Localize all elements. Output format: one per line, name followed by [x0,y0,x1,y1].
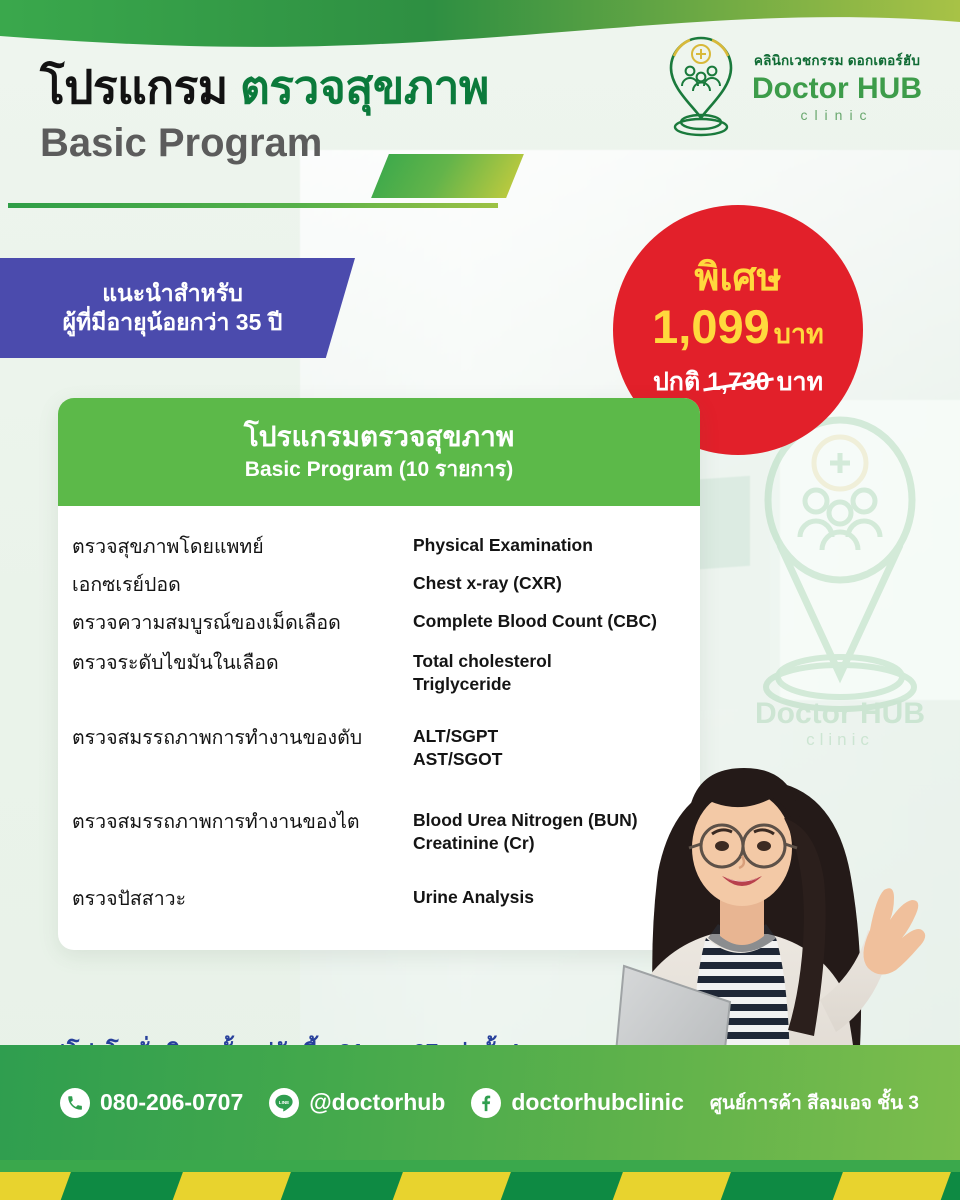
logo-english-name: Doctor HUB [752,73,922,105]
contact-facebook[interactable]: doctorhubclinic [471,1088,684,1118]
title-part-1: โปรแกรม [40,61,228,113]
program-item-thai: ตรวจปัสสาวะ [58,886,413,912]
svg-text:Doctor HUB: Doctor HUB [755,697,925,730]
program-item-row: ตรวจความสมบูรณ์ของเม็ดเลือดComplete Bloo… [58,610,700,636]
title-underline [8,203,498,208]
program-card-header: โปรแกรมตรวจสุขภาพ Basic Program (10 รายก… [58,398,700,506]
program-item-thai: ตรวจสมรรถภาพการทำงานของไต [58,809,413,835]
svg-text:LINE: LINE [279,1099,289,1104]
phone-icon [60,1088,90,1118]
facebook-icon [471,1088,501,1118]
poster-root: Doctor HUB clinic โปรแกรม ตรวจสุขภาพ Bas… [0,0,960,1200]
recommend-line-1: แนะนำสำหรับ [102,279,243,308]
program-item-thai: เอกซเรย์ปอด [58,572,413,598]
price-amount: 1,099 [652,300,770,353]
price-main: 1,099บาท [652,302,824,351]
program-item-english: Complete Blood Count (CBC) [413,610,700,633]
price-unit: บาท [774,319,824,349]
logo-thai-name: คลินิกเวชกรรม ดอกเตอร์ฮับ [754,49,920,71]
program-item-english: Physical Examination [413,534,700,557]
stripe-top-band [0,1160,960,1172]
contact-line[interactable]: LINE @doctorhub [269,1088,445,1118]
card-header-thai: โปรแกรมตรวจสุขภาพ [244,421,515,453]
svg-text:clinic: clinic [806,730,874,745]
clinic-address: ศูนย์การค้า สีลมเอจ ชั้น 3 [710,1088,919,1118]
price-original-unit: บาท [777,368,823,396]
price-special-label: พิเศษ [694,258,781,300]
logo-subtitle: clinic [800,107,873,123]
program-item-english: Chest x-ray (CXR) [413,572,700,595]
title-part-2: ตรวจสุขภาพ [240,61,489,113]
recommend-line-2: ผู้ที่มีอายุน้อยกว่า 35 ปี [63,308,283,337]
bottom-stripe-pattern [0,1160,960,1200]
line-id: @doctorhub [309,1089,445,1116]
contact-footer: 080-206-0707 LINE @doctorhub doctorhubcl… [0,1045,960,1160]
card-header-english: Basic Program (10 รายการ) [245,456,513,483]
program-item-thai: ตรวจสุขภาพโดยแพทย์ [58,534,413,560]
price-original-prefix: ปกติ [653,368,700,396]
program-item-row: ตรวจสุขภาพโดยแพทย์Physical Examination [58,534,700,560]
program-item-row: ตรวจระดับไขมันในเลือดTotal cholesterol T… [58,650,700,696]
contact-phone[interactable]: 080-206-0707 [60,1088,243,1118]
price-original-amount: 1,730 [707,368,770,396]
program-item-thai: ตรวจสมรรถภาพการทำงานของตับ [58,725,413,751]
program-item-english: Total cholesterol Triglyceride [413,650,700,696]
price-original: ปกติ 1,730 บาท [653,362,823,402]
program-item-thai: ตรวจระดับไขมันในเลือด [58,650,413,676]
line-app-icon: LINE [269,1088,299,1118]
program-item-row: เอกซเรย์ปอดChest x-ray (CXR) [58,572,700,598]
recommendation-badge: แนะนำสำหรับ ผู้ที่มีอายุน้อยกว่า 35 ปี [0,258,355,358]
brand-logo: คลินิกเวชกรรม ดอกเตอร์ฮับ Doctor HUB cli… [662,34,922,138]
location-pin-people-icon [662,34,740,138]
watermark-logo-icon: Doctor HUB clinic [740,405,940,745]
phone-number: 080-206-0707 [100,1089,243,1116]
page-title: โปรแกรม ตรวจสุขภาพ Basic Program [40,62,489,165]
title-accent-shape [371,154,524,198]
program-item-thai: ตรวจความสมบูรณ์ของเม็ดเลือด [58,610,413,636]
facebook-page: doctorhubclinic [511,1089,684,1116]
